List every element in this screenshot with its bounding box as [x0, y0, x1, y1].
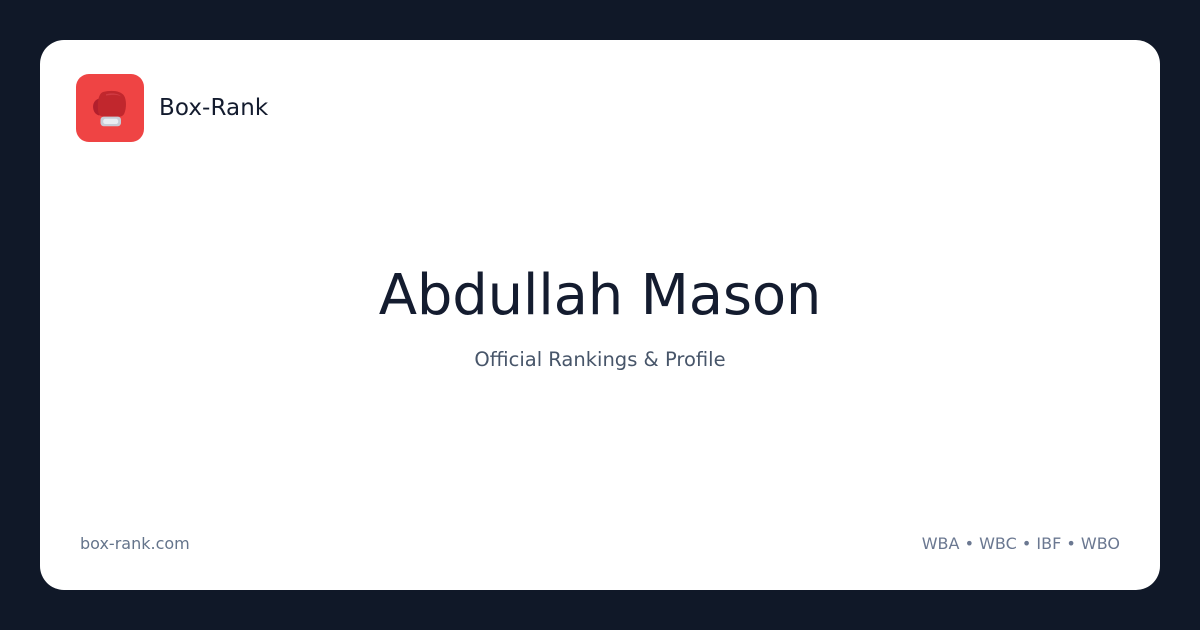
profile-card: Box-Rank Abdullah Mason Official Ranking…: [40, 40, 1160, 590]
hero-section: Abdullah Mason Official Rankings & Profi…: [76, 142, 1124, 532]
brand-name: Box-Rank: [159, 97, 268, 120]
brand-header[interactable]: Box-Rank: [76, 74, 1124, 142]
brand-logo-tile: [76, 74, 144, 142]
page-background: Box-Rank Abdullah Mason Official Ranking…: [0, 0, 1200, 630]
boxing-glove-icon: [90, 86, 130, 130]
footer-site-url[interactable]: box-rank.com: [80, 534, 190, 553]
page-title: Abdullah Mason: [379, 265, 821, 327]
footer-sanctioning-bodies: WBA • WBC • IBF • WBO: [922, 534, 1120, 553]
page-subtitle: Official Rankings & Profile: [474, 348, 725, 371]
card-footer: box-rank.com WBA • WBC • IBF • WBO: [76, 532, 1124, 560]
